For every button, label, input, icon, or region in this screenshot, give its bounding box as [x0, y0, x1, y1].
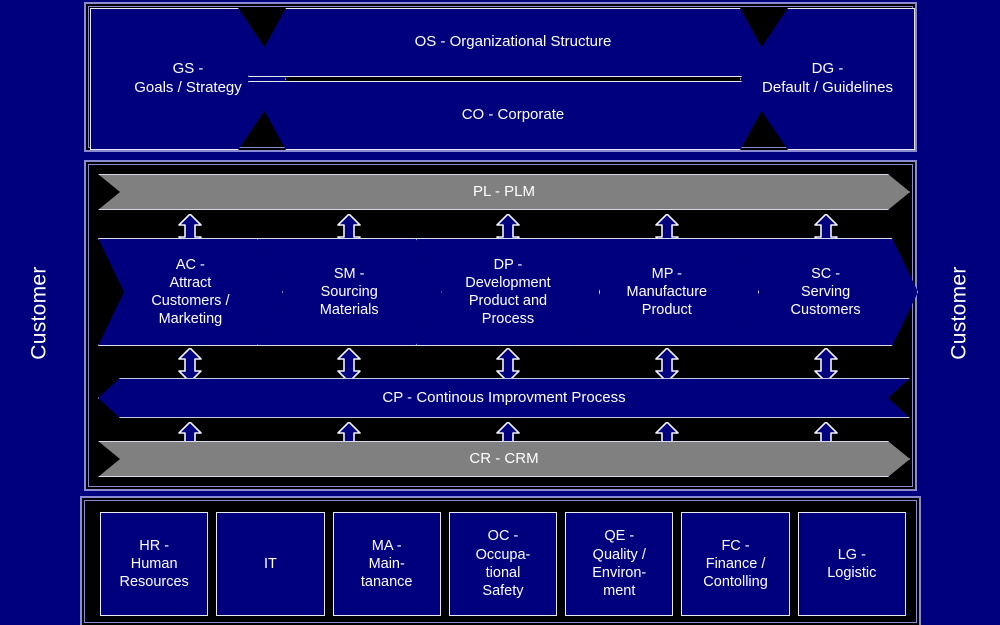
process-line-3: Customers: [791, 302, 861, 318]
shape-support-ma-label: MA -Main-tanance: [358, 537, 416, 592]
support-line-3: tanance: [361, 574, 413, 590]
shape-support-fc[interactable]: FC -Finance /Contolling: [681, 512, 789, 616]
shape-process-sm[interactable]: SM -SourcingMaterials: [257, 238, 442, 346]
gs-line-2: Goals / Strategy: [134, 79, 242, 96]
customer-label-left-text: Customer: [28, 266, 52, 359]
process-line-1: SC -: [811, 266, 840, 282]
support-line-1: QE -: [604, 528, 634, 544]
shape-support-oc[interactable]: OC -Occupa-tionalSafety: [449, 512, 557, 616]
shape-organizational-structure[interactable]: OS - Organizational Structure: [248, 8, 778, 77]
shape-support-oc-label: OC -Occupa-tionalSafety: [473, 527, 534, 600]
strategy-panel: GS - Goals / Strategy OS - Organizationa…: [84, 2, 917, 152]
shape-support-hr[interactable]: HR -HumanResources: [100, 512, 208, 616]
shape-support-hr-label: HR -HumanResources: [116, 537, 191, 592]
shape-crm-bar[interactable]: CR - CRM: [98, 441, 910, 477]
core-process-panel: PL - PLM AC -AttractCustomers /Marketing…: [84, 160, 917, 491]
shape-support-qe[interactable]: QE -Quality /Environ-ment: [565, 512, 673, 616]
customer-label-left: Customer: [0, 0, 80, 625]
diagram-canvas: Customer Customer GS - Goals / Strategy …: [0, 0, 1000, 625]
process-line-2: Manufacture: [626, 284, 707, 300]
process-line-1: SM -: [334, 266, 365, 282]
shape-support-lg-label: LG -Logistic: [824, 546, 879, 583]
support-line-4: Safety: [482, 583, 523, 599]
shape-process-ac[interactable]: AC -AttractCustomers /Marketing: [98, 238, 283, 346]
shape-plm-bar-label: PL - PLM: [473, 183, 535, 201]
double-arrow-vertical-icon: [336, 348, 362, 382]
support-line-1: LG -: [838, 547, 866, 563]
double-arrow-vertical-icon: [654, 348, 680, 382]
support-line-4: ment: [603, 583, 635, 599]
process-line-3: Product: [642, 302, 692, 318]
core-process-shapes-group: PL - PLM AC -AttractCustomers /Marketing…: [90, 166, 911, 485]
support-line-2: Occupa-: [476, 547, 531, 563]
shape-support-it[interactable]: IT: [216, 512, 324, 616]
support-line-1: FC -: [721, 538, 749, 554]
shape-support-qe-label: QE -Quality /Environ-ment: [589, 527, 649, 600]
support-line-3: Contolling: [703, 574, 768, 590]
process-line-3: Customers /: [151, 293, 229, 309]
process-line-2: Attract: [169, 275, 211, 291]
shape-crm-bar-label: CR - CRM: [469, 450, 538, 468]
dg-line-1: DG -: [812, 60, 844, 77]
double-arrow-vertical-icon: [813, 348, 839, 382]
shape-process-dp-label: DP -DevelopmentProduct andProcess: [461, 256, 554, 329]
dg-line-2: Default / Guidelines: [762, 79, 893, 96]
process-chevron-row: AC -AttractCustomers /MarketingSM -Sourc…: [98, 238, 918, 346]
shape-process-mp[interactable]: MP -ManufactureProduct: [574, 238, 759, 346]
support-line-1: MA -: [372, 538, 402, 554]
process-line-1: MP -: [652, 266, 682, 282]
process-line-1: DP -: [494, 257, 523, 273]
shape-support-lg[interactable]: LG -Logistic: [798, 512, 906, 616]
shape-process-sc[interactable]: SC -ServingCustomers: [733, 238, 918, 346]
process-line-3: Materials: [320, 302, 379, 318]
support-line-3: Resources: [119, 574, 188, 590]
shape-default-guidelines-label: DG - Default / Guidelines: [756, 60, 899, 98]
shape-support-ma[interactable]: MA -Main-tanance: [333, 512, 441, 616]
support-functions-row: HR -HumanResourcesITMA -Main-tananceOC -…: [100, 512, 906, 616]
process-line-2: Sourcing: [321, 284, 378, 300]
support-line-1: OC -: [488, 528, 519, 544]
shape-organizational-structure-label: OS - Organizational Structure: [409, 33, 618, 52]
strategy-shapes-group: GS - Goals / Strategy OS - Organizationa…: [90, 8, 911, 146]
shape-plm-bar[interactable]: PL - PLM: [98, 174, 910, 210]
process-line-4: Marketing: [159, 311, 223, 327]
process-line-3: Product and: [469, 293, 547, 309]
process-line-1: AC -: [176, 257, 205, 273]
process-line-2: Serving: [801, 284, 850, 300]
shape-default-guidelines[interactable]: DG - Default / Guidelines: [740, 8, 915, 150]
shape-process-sm-label: SM -SourcingMaterials: [316, 265, 383, 319]
shape-support-it-label: IT: [261, 555, 280, 573]
support-line-2: Human: [131, 556, 178, 572]
customer-label-right: Customer: [920, 0, 1000, 625]
customer-label-right-text: Customer: [948, 266, 972, 359]
support-line-1: IT: [264, 556, 277, 572]
shape-corporate-label: CO - Corporate: [456, 106, 571, 125]
support-line-2: Quality /: [593, 547, 646, 563]
support-functions-panel: HR -HumanResourcesITMA -Main-tananceOC -…: [80, 496, 921, 625]
process-line-2: Development: [465, 275, 550, 291]
shape-support-fc-label: FC -Finance /Contolling: [700, 537, 771, 592]
shape-goals-strategy-label: GS - Goals / Strategy: [128, 60, 248, 98]
double-arrow-vertical-icon: [177, 348, 203, 382]
support-line-2: Main-: [369, 556, 405, 572]
shape-process-mp-label: MP -ManufactureProduct: [622, 265, 711, 319]
shape-process-ac-label: AC -AttractCustomers /Marketing: [147, 256, 233, 329]
connector-row-middle: [98, 348, 918, 382]
support-line-2: Finance /: [706, 556, 766, 572]
shape-continuous-improvement-bar[interactable]: CP - Continous Improvment Process: [98, 378, 910, 418]
double-arrow-vertical-icon: [495, 348, 521, 382]
support-line-1: HR -: [139, 538, 169, 554]
shape-process-dp[interactable]: DP -DevelopmentProduct andProcess: [416, 238, 601, 346]
shape-goals-strategy[interactable]: GS - Goals / Strategy: [90, 8, 286, 150]
gs-line-1: GS -: [173, 60, 204, 77]
process-line-4: Process: [482, 311, 534, 327]
support-line-3: tional: [486, 565, 521, 581]
shape-process-sc-label: SC -ServingCustomers: [787, 265, 865, 319]
support-line-3: Environ-: [592, 565, 646, 581]
shape-continuous-improvement-bar-label: CP - Continous Improvment Process: [382, 389, 625, 407]
shape-corporate[interactable]: CO - Corporate: [248, 81, 778, 150]
support-line-2: Logistic: [827, 565, 876, 581]
